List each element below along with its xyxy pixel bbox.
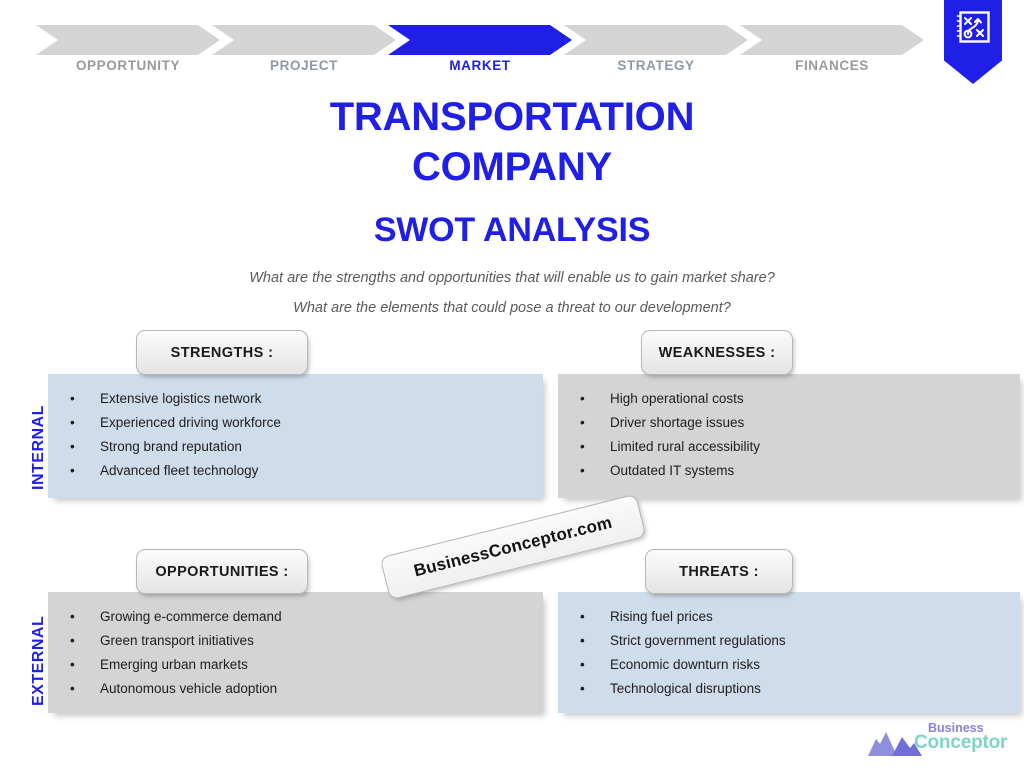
quadrant-strengths-body: •Extensive logistics network •Experience…: [48, 374, 543, 498]
quadrant-header-weaknesses: WEAKNESSES :: [641, 330, 793, 375]
list-item: •Outdated IT systems: [580, 459, 1020, 483]
analysis-title: SWOT ANALYSIS: [0, 208, 1024, 252]
nav-step-strategy[interactable]: STRATEGY: [564, 25, 748, 55]
company-title-line2: COMPANY: [0, 142, 1024, 192]
quadrant-header-label: THREATS :: [679, 564, 759, 580]
bullet-icon: •: [70, 459, 75, 483]
bullet-icon: •: [70, 411, 75, 435]
list-item-label: Technological disruptions: [610, 681, 761, 696]
list-item-label: Experienced driving workforce: [100, 415, 281, 430]
list-item-label: Advanced fleet technology: [100, 463, 258, 478]
bullet-icon: •: [70, 605, 75, 629]
weaknesses-list: •High operational costs •Driver shortage…: [558, 374, 1020, 483]
list-item: •Extensive logistics network: [70, 387, 543, 411]
nav-label-strategy: STRATEGY: [564, 58, 748, 73]
list-item-label: Limited rural accessibility: [610, 439, 760, 454]
bullet-icon: •: [580, 605, 585, 629]
bullet-icon: •: [580, 435, 585, 459]
quadrant-opportunities-body: •Growing e-commerce demand •Green transp…: [48, 592, 543, 713]
list-item: •Experienced driving workforce: [70, 411, 543, 435]
axis-label-external: EXTERNAL: [30, 616, 48, 706]
title-block: TRANSPORTATION COMPANY SWOT ANALYSIS Wha…: [0, 92, 1024, 323]
quadrant-header-strengths: STRENGTHS :: [136, 330, 308, 375]
bullet-icon: •: [70, 677, 75, 701]
nav-step-project[interactable]: PROJECT: [212, 25, 396, 55]
list-item: •Advanced fleet technology: [70, 459, 543, 483]
quadrant-weaknesses-body: •High operational costs •Driver shortage…: [558, 374, 1020, 498]
nav-label-finances: FINANCES: [740, 58, 924, 73]
list-item: •Strict government regulations: [580, 629, 1020, 653]
list-item-label: Growing e-commerce demand: [100, 609, 282, 624]
bullet-icon: •: [70, 653, 75, 677]
bullet-icon: •: [580, 653, 585, 677]
list-item: •Rising fuel prices: [580, 605, 1020, 629]
quadrant-header-label: WEAKNESSES :: [659, 345, 776, 361]
list-item-label: High operational costs: [610, 391, 744, 406]
list-item: •Strong brand reputation: [70, 435, 543, 459]
opportunities-list: •Growing e-commerce demand •Green transp…: [48, 592, 543, 701]
bullet-icon: •: [580, 459, 585, 483]
list-item-label: Emerging urban markets: [100, 657, 248, 672]
chevron-shape-opportunity: [36, 25, 220, 55]
nav-step-finances[interactable]: FINANCES: [740, 25, 924, 55]
list-item-label: Outdated IT systems: [610, 463, 734, 478]
quadrant-threats-body: •Rising fuel prices •Strict government r…: [558, 592, 1020, 713]
list-item-label: Rising fuel prices: [610, 609, 713, 624]
bullet-icon: •: [70, 435, 75, 459]
watermark-badge: BusinessConceptor.com: [380, 494, 647, 601]
list-item-label: Extensive logistics network: [100, 391, 261, 406]
quadrant-header-threats: THREATS :: [645, 549, 793, 594]
page-title: TRANSPORTATION COMPANY: [0, 92, 1024, 192]
list-item-label: Driver shortage issues: [610, 415, 744, 430]
logo-wordmark: Business Conceptor: [914, 722, 1007, 752]
list-item: •Technological disruptions: [580, 677, 1020, 701]
process-step-navigation: OPPORTUNITY PROJECT MARKET STRATEGY FINA…: [0, 0, 1024, 88]
chevron-shape-finances: [740, 25, 924, 55]
strengths-list: •Extensive logistics network •Experience…: [48, 374, 543, 483]
list-item: •Emerging urban markets: [70, 653, 543, 677]
threats-list: •Rising fuel prices •Strict government r…: [558, 592, 1020, 701]
bullet-icon: •: [580, 677, 585, 701]
chevron-shape-market: [388, 25, 572, 55]
chevron-shape-strategy: [564, 25, 748, 55]
business-conceptor-logo: Business Conceptor: [866, 722, 1016, 764]
quadrant-header-label: STRENGTHS :: [171, 345, 274, 361]
bullet-icon: •: [580, 411, 585, 435]
company-title-line1: TRANSPORTATION: [0, 92, 1024, 142]
list-item: •Growing e-commerce demand: [70, 605, 543, 629]
list-item: •Green transport initiatives: [70, 629, 543, 653]
nav-label-project: PROJECT: [212, 58, 396, 73]
list-item-label: Strong brand reputation: [100, 439, 242, 454]
logo-word-conceptor: Conceptor: [914, 733, 1007, 752]
list-item-label: Economic downturn risks: [610, 657, 760, 672]
bullet-icon: •: [70, 629, 75, 653]
bullet-icon: •: [580, 387, 585, 411]
bullet-icon: •: [70, 387, 75, 411]
axis-label-internal: INTERNAL: [30, 405, 48, 490]
list-item: •Limited rural accessibility: [580, 435, 1020, 459]
list-item-label: Autonomous vehicle adoption: [100, 681, 277, 696]
nav-label-opportunity: OPPORTUNITY: [36, 58, 220, 73]
quadrant-header-opportunities: OPPORTUNITIES :: [136, 549, 308, 594]
guiding-question-1: What are the strengths and opportunities…: [0, 263, 1024, 293]
list-item: •Economic downturn risks: [580, 653, 1020, 677]
bullet-icon: •: [580, 629, 585, 653]
list-item: •Autonomous vehicle adoption: [70, 677, 543, 701]
strategy-playbook-glyph: [955, 10, 991, 46]
list-item-label: Green transport initiatives: [100, 633, 254, 648]
list-item: •Driver shortage issues: [580, 411, 1020, 435]
list-item: •High operational costs: [580, 387, 1020, 411]
watermark-label: BusinessConceptor.com: [412, 513, 614, 582]
guiding-question-2: What are the elements that could pose a …: [0, 293, 1024, 323]
nav-step-market[interactable]: MARKET: [388, 25, 572, 55]
nav-label-market: MARKET: [388, 58, 572, 73]
list-item-label: Strict government regulations: [610, 633, 786, 648]
chevron-shape-project: [212, 25, 396, 55]
nav-step-opportunity[interactable]: OPPORTUNITY: [36, 25, 220, 55]
quadrant-header-label: OPPORTUNITIES :: [155, 564, 288, 580]
